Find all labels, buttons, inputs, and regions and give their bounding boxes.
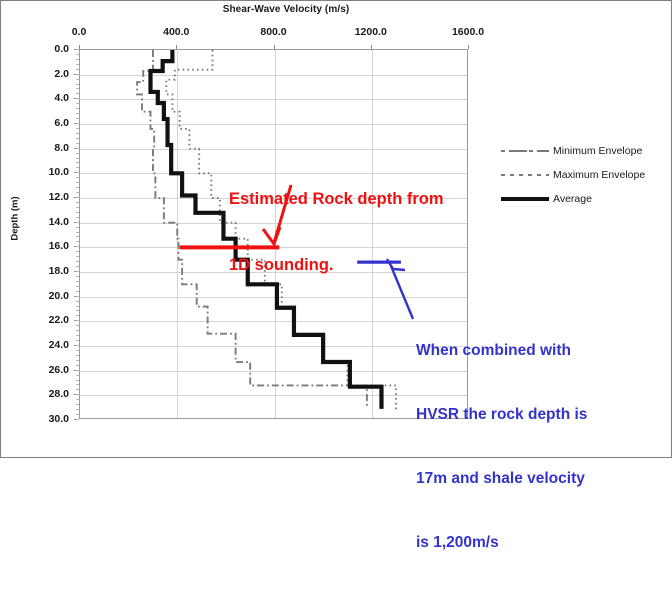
y-axis-tick-label: 10.0 xyxy=(7,166,69,178)
y-axis-minor-tick xyxy=(76,192,79,193)
y-axis-minor-tick xyxy=(76,266,79,267)
y-axis-tick-label: 30.0 xyxy=(7,413,69,425)
y-axis-minor-tick xyxy=(76,246,79,247)
y-axis-minor-tick xyxy=(76,236,79,237)
y-axis-minor-tick xyxy=(76,148,79,149)
y-axis-minor-tick xyxy=(76,202,79,203)
y-axis-tick-label: 8.0 xyxy=(7,142,69,154)
y-axis-minor-tick xyxy=(76,227,79,228)
y-axis-minor-tick xyxy=(76,108,79,109)
y-axis-minor-tick xyxy=(76,177,79,178)
y-axis-minor-tick xyxy=(76,241,79,242)
y-axis-minor-tick xyxy=(76,158,79,159)
y-axis-tick-label: 4.0 xyxy=(7,92,69,104)
y-axis-minor-tick xyxy=(76,207,79,208)
y-axis-minor-tick xyxy=(76,419,79,420)
y-axis-minor-tick xyxy=(76,182,79,183)
y-axis-tick-label: 26.0 xyxy=(7,364,69,376)
y-axis-minor-tick xyxy=(76,84,79,85)
y-axis-minor-tick xyxy=(76,79,79,80)
y-axis-minor-tick xyxy=(76,296,79,297)
chart-figure: Shear-Wave Velocity (m/s) Depth (m) 0.02… xyxy=(0,0,672,458)
y-axis-minor-tick xyxy=(76,394,79,395)
y-axis-tick-label: 14.0 xyxy=(7,216,69,228)
y-axis-minor-tick xyxy=(76,103,79,104)
dotted-line-icon xyxy=(501,169,549,181)
legend-item-average[interactable]: Average xyxy=(501,187,669,211)
y-axis-tick-label: 16.0 xyxy=(7,240,69,252)
blue-annotation-line-4: is 1,200m/s xyxy=(416,532,587,553)
legend-item-label: Maximum Envelope xyxy=(553,169,645,181)
y-axis-minor-tick xyxy=(76,172,79,173)
y-axis-minor-tick xyxy=(76,271,79,272)
y-axis-tick-label: 22.0 xyxy=(7,314,69,326)
y-axis-minor-tick xyxy=(76,365,79,366)
x-axis-tick xyxy=(176,45,177,49)
y-axis-minor-tick xyxy=(76,88,79,89)
y-axis-minor-tick xyxy=(76,69,79,70)
y-axis-tick-label: 0.0 xyxy=(7,43,69,55)
y-axis-tick-label: 28.0 xyxy=(7,388,69,400)
y-axis-tick-label: 2.0 xyxy=(7,68,69,80)
y-axis-minor-tick xyxy=(76,320,79,321)
y-axis-minor-tick xyxy=(76,335,79,336)
y-axis-tick-label: 6.0 xyxy=(7,117,69,129)
blue-annotation-line-2: HVSR the rock depth is xyxy=(416,404,587,425)
x-axis-tick-label: 1600.0 xyxy=(428,26,508,38)
y-axis-minor-tick xyxy=(76,74,79,75)
y-axis-minor-tick xyxy=(76,153,79,154)
y-axis-minor-tick xyxy=(76,325,79,326)
y-axis-minor-tick xyxy=(76,350,79,351)
y-axis-minor-tick xyxy=(76,340,79,341)
legend-item-maximum-envelope[interactable]: Maximum Envelope xyxy=(501,163,669,187)
chart-title: Shear-Wave Velocity (m/s) xyxy=(121,4,451,15)
y-axis-minor-tick xyxy=(76,384,79,385)
y-axis-minor-tick xyxy=(76,123,79,124)
y-axis-minor-tick xyxy=(76,59,79,60)
red-annotation-line-2: 1D sounding. xyxy=(229,255,444,277)
y-axis-minor-tick xyxy=(76,276,79,277)
x-axis-tick xyxy=(371,45,372,49)
x-axis-tick-label: 0.0 xyxy=(39,26,119,38)
y-axis-minor-tick xyxy=(76,187,79,188)
y-axis-tick-label: 18.0 xyxy=(7,265,69,277)
x-axis-tick xyxy=(79,45,80,49)
red-annotation-line-1: Estimated Rock depth from xyxy=(229,189,444,211)
y-axis-minor-tick xyxy=(76,256,79,257)
y-axis-minor-tick xyxy=(76,217,79,218)
chart-title-wrap: Shear-Wave Velocity (m/s) xyxy=(121,4,451,15)
y-axis-minor-tick xyxy=(76,167,79,168)
y-axis-minor-tick xyxy=(76,306,79,307)
y-axis-minor-tick xyxy=(76,389,79,390)
y-axis-minor-tick xyxy=(76,355,79,356)
y-axis-minor-tick xyxy=(76,93,79,94)
y-axis-tick-label: 24.0 xyxy=(7,339,69,351)
blue-annotation-line-1: When combined with xyxy=(416,340,587,361)
y-axis-minor-tick xyxy=(76,212,79,213)
x-axis-tick xyxy=(468,45,469,49)
y-axis-minor-tick xyxy=(76,414,79,415)
estimated-rock-depth-annotation: Estimated Rock depth from 1D sounding. xyxy=(229,145,444,321)
y-axis-minor-tick xyxy=(76,404,79,405)
legend-item-label: Average xyxy=(553,193,592,205)
y-axis-tick-label: 12.0 xyxy=(7,191,69,203)
y-axis-minor-tick xyxy=(76,380,79,381)
y-axis-minor-tick xyxy=(76,49,79,50)
y-axis-minor-tick xyxy=(76,162,79,163)
y-axis-minor-tick xyxy=(76,301,79,302)
x-axis-tick-label: 800.0 xyxy=(234,26,314,38)
legend-item-label: Minimum Envelope xyxy=(553,145,642,157)
y-axis-minor-tick xyxy=(76,98,79,99)
blue-annotation-line-3: 17m and shale velocity xyxy=(416,468,587,489)
y-axis-tick-label: 20.0 xyxy=(7,290,69,302)
y-axis-minor-tick xyxy=(76,118,79,119)
y-axis-minor-tick xyxy=(76,345,79,346)
y-axis-minor-tick xyxy=(76,399,79,400)
x-axis-tick xyxy=(274,45,275,49)
y-axis-minor-tick xyxy=(76,360,79,361)
y-axis-minor-tick xyxy=(76,375,79,376)
y-axis-minor-tick xyxy=(76,251,79,252)
y-axis-minor-tick xyxy=(76,222,79,223)
legend: Minimum EnvelopeMaximum EnvelopeAverage xyxy=(501,139,669,211)
legend-item-minimum-envelope[interactable]: Minimum Envelope xyxy=(501,139,669,163)
y-axis-minor-tick xyxy=(76,232,79,233)
y-axis-minor-tick xyxy=(76,113,79,114)
x-axis-tick-label: 400.0 xyxy=(136,26,216,38)
y-axis-minor-tick xyxy=(76,133,79,134)
y-axis-minor-tick xyxy=(76,286,79,287)
y-axis-minor-tick xyxy=(76,281,79,282)
y-axis-minor-tick xyxy=(76,310,79,311)
hvsr-annotation: When combined with HVSR the rock depth i… xyxy=(416,297,587,596)
dash-dot-line-icon xyxy=(501,145,549,157)
y-axis-minor-tick xyxy=(76,197,79,198)
y-axis-minor-tick xyxy=(76,261,79,262)
y-axis-minor-tick xyxy=(76,143,79,144)
y-axis-minor-tick xyxy=(76,54,79,55)
y-axis-minor-tick xyxy=(76,64,79,65)
y-axis-minor-tick xyxy=(76,409,79,410)
y-axis-minor-tick xyxy=(76,330,79,331)
y-axis-minor-tick xyxy=(76,138,79,139)
y-axis-minor-tick xyxy=(76,370,79,371)
x-axis-tick-label: 1200.0 xyxy=(331,26,411,38)
y-axis-minor-tick xyxy=(76,291,79,292)
solid-line-icon xyxy=(501,193,549,205)
y-axis-minor-tick xyxy=(76,128,79,129)
y-axis-minor-tick xyxy=(76,315,79,316)
